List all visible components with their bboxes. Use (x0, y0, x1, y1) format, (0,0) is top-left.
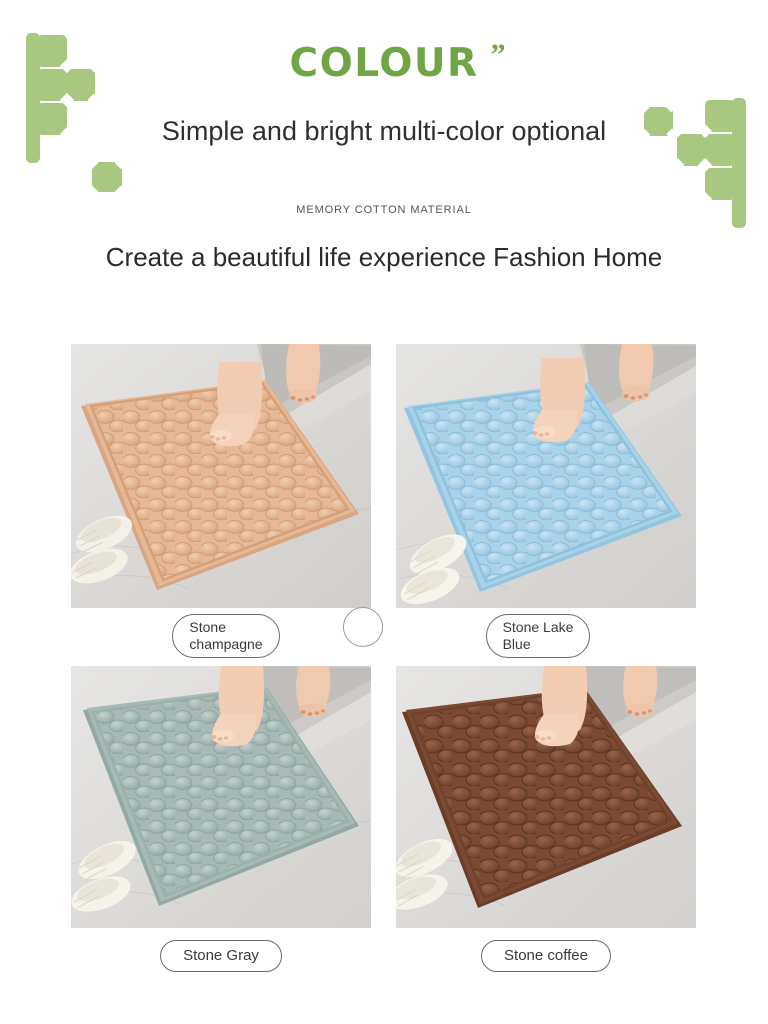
product-photo-stone-champagne (71, 344, 371, 608)
product-photo-stone-gray (71, 666, 371, 928)
material-caption: MEMORY COTTON MATERIAL (0, 204, 768, 216)
product-photo-stone-coffee (396, 666, 696, 928)
product-label-stone-champagne[interactable]: Stone champagne (172, 614, 279, 657)
product-color-grid: Stone champagne (71, 344, 697, 984)
product-caption-stone-lake-blue: Stone Lake Blue (396, 608, 696, 664)
product-card-stone-champagne[interactable]: Stone champagne (71, 344, 371, 664)
product-label-stone-lake-blue[interactable]: Stone Lake Blue (486, 614, 591, 657)
product-color-page: COLOUR ” Simple and bright multi-color o… (0, 0, 768, 1024)
quote-mark-icon: ” (491, 38, 506, 72)
product-row-2: Stone Gray (71, 666, 697, 984)
product-caption-stone-coffee: Stone coffee (396, 928, 696, 984)
page-subtitle: Simple and bright multi-color optional (0, 116, 768, 147)
product-caption-stone-champagne: Stone champagne (71, 608, 371, 664)
product-caption-stone-gray: Stone Gray (71, 928, 371, 984)
page-tagline: Create a beautiful life experience Fashi… (0, 242, 768, 273)
product-photo-stone-lake-blue (396, 344, 696, 608)
product-row-1: Stone champagne (71, 344, 697, 664)
product-card-stone-gray[interactable]: Stone Gray (71, 666, 371, 984)
product-label-stone-gray[interactable]: Stone Gray (160, 940, 282, 972)
decorative-tile-small-left (88, 158, 132, 205)
product-label-stone-coffee[interactable]: Stone coffee (481, 940, 611, 972)
product-card-stone-coffee[interactable]: Stone coffee (396, 666, 696, 984)
product-card-stone-lake-blue[interactable]: Stone Lake Blue (396, 344, 696, 664)
decorative-circle-artifact (343, 607, 383, 647)
page-title-row: COLOUR ” (0, 44, 768, 83)
page-title: COLOUR (289, 41, 478, 86)
